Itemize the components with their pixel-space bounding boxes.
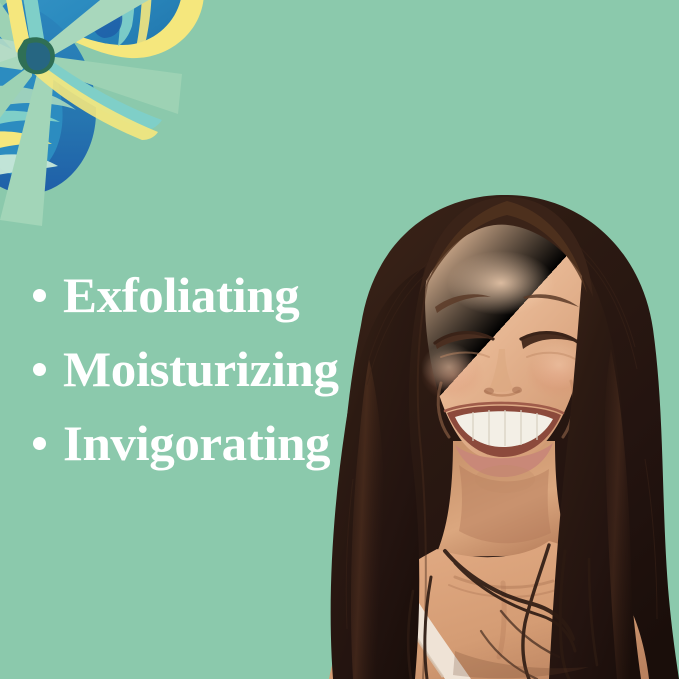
benefit-item-moisturizing: Moisturizing (33, 332, 433, 406)
benefit-label: Invigorating (63, 418, 330, 468)
bullet-dot-icon (33, 437, 63, 450)
hair-crown (419, 197, 593, 297)
product-benefits-banner: Exfoliating Moisturizing Invigorating (0, 0, 679, 679)
eyes-closed (435, 333, 579, 359)
nose (484, 349, 522, 396)
leaf-blades (0, 0, 182, 226)
petal-upper-right (0, 0, 204, 58)
petal-left-wedge (0, 0, 2, 44)
petal-lower-teardrop (0, 0, 96, 194)
bullet-dot-icon (33, 289, 63, 302)
hair-front-right (549, 265, 641, 679)
painted-floral-motif-icon (0, 0, 282, 244)
face (421, 205, 589, 493)
chest-shoulders (329, 541, 649, 679)
benefit-item-invigorating: Invigorating (33, 406, 433, 480)
camisole-strap (399, 603, 471, 679)
mouth-smiling (438, 381, 574, 477)
benefits-list: Exfoliating Moisturizing Invigorating (33, 258, 433, 480)
flower-core (18, 37, 55, 74)
benefit-label: Exfoliating (63, 270, 299, 320)
neck (435, 441, 573, 557)
benefit-item-exfoliating: Exfoliating (33, 258, 433, 332)
eyebrows (435, 294, 579, 313)
bullet-dot-icon (33, 363, 63, 376)
benefit-label: Moisturizing (63, 344, 339, 394)
paint-ribbons (0, 0, 162, 140)
hair-strands (408, 545, 597, 679)
